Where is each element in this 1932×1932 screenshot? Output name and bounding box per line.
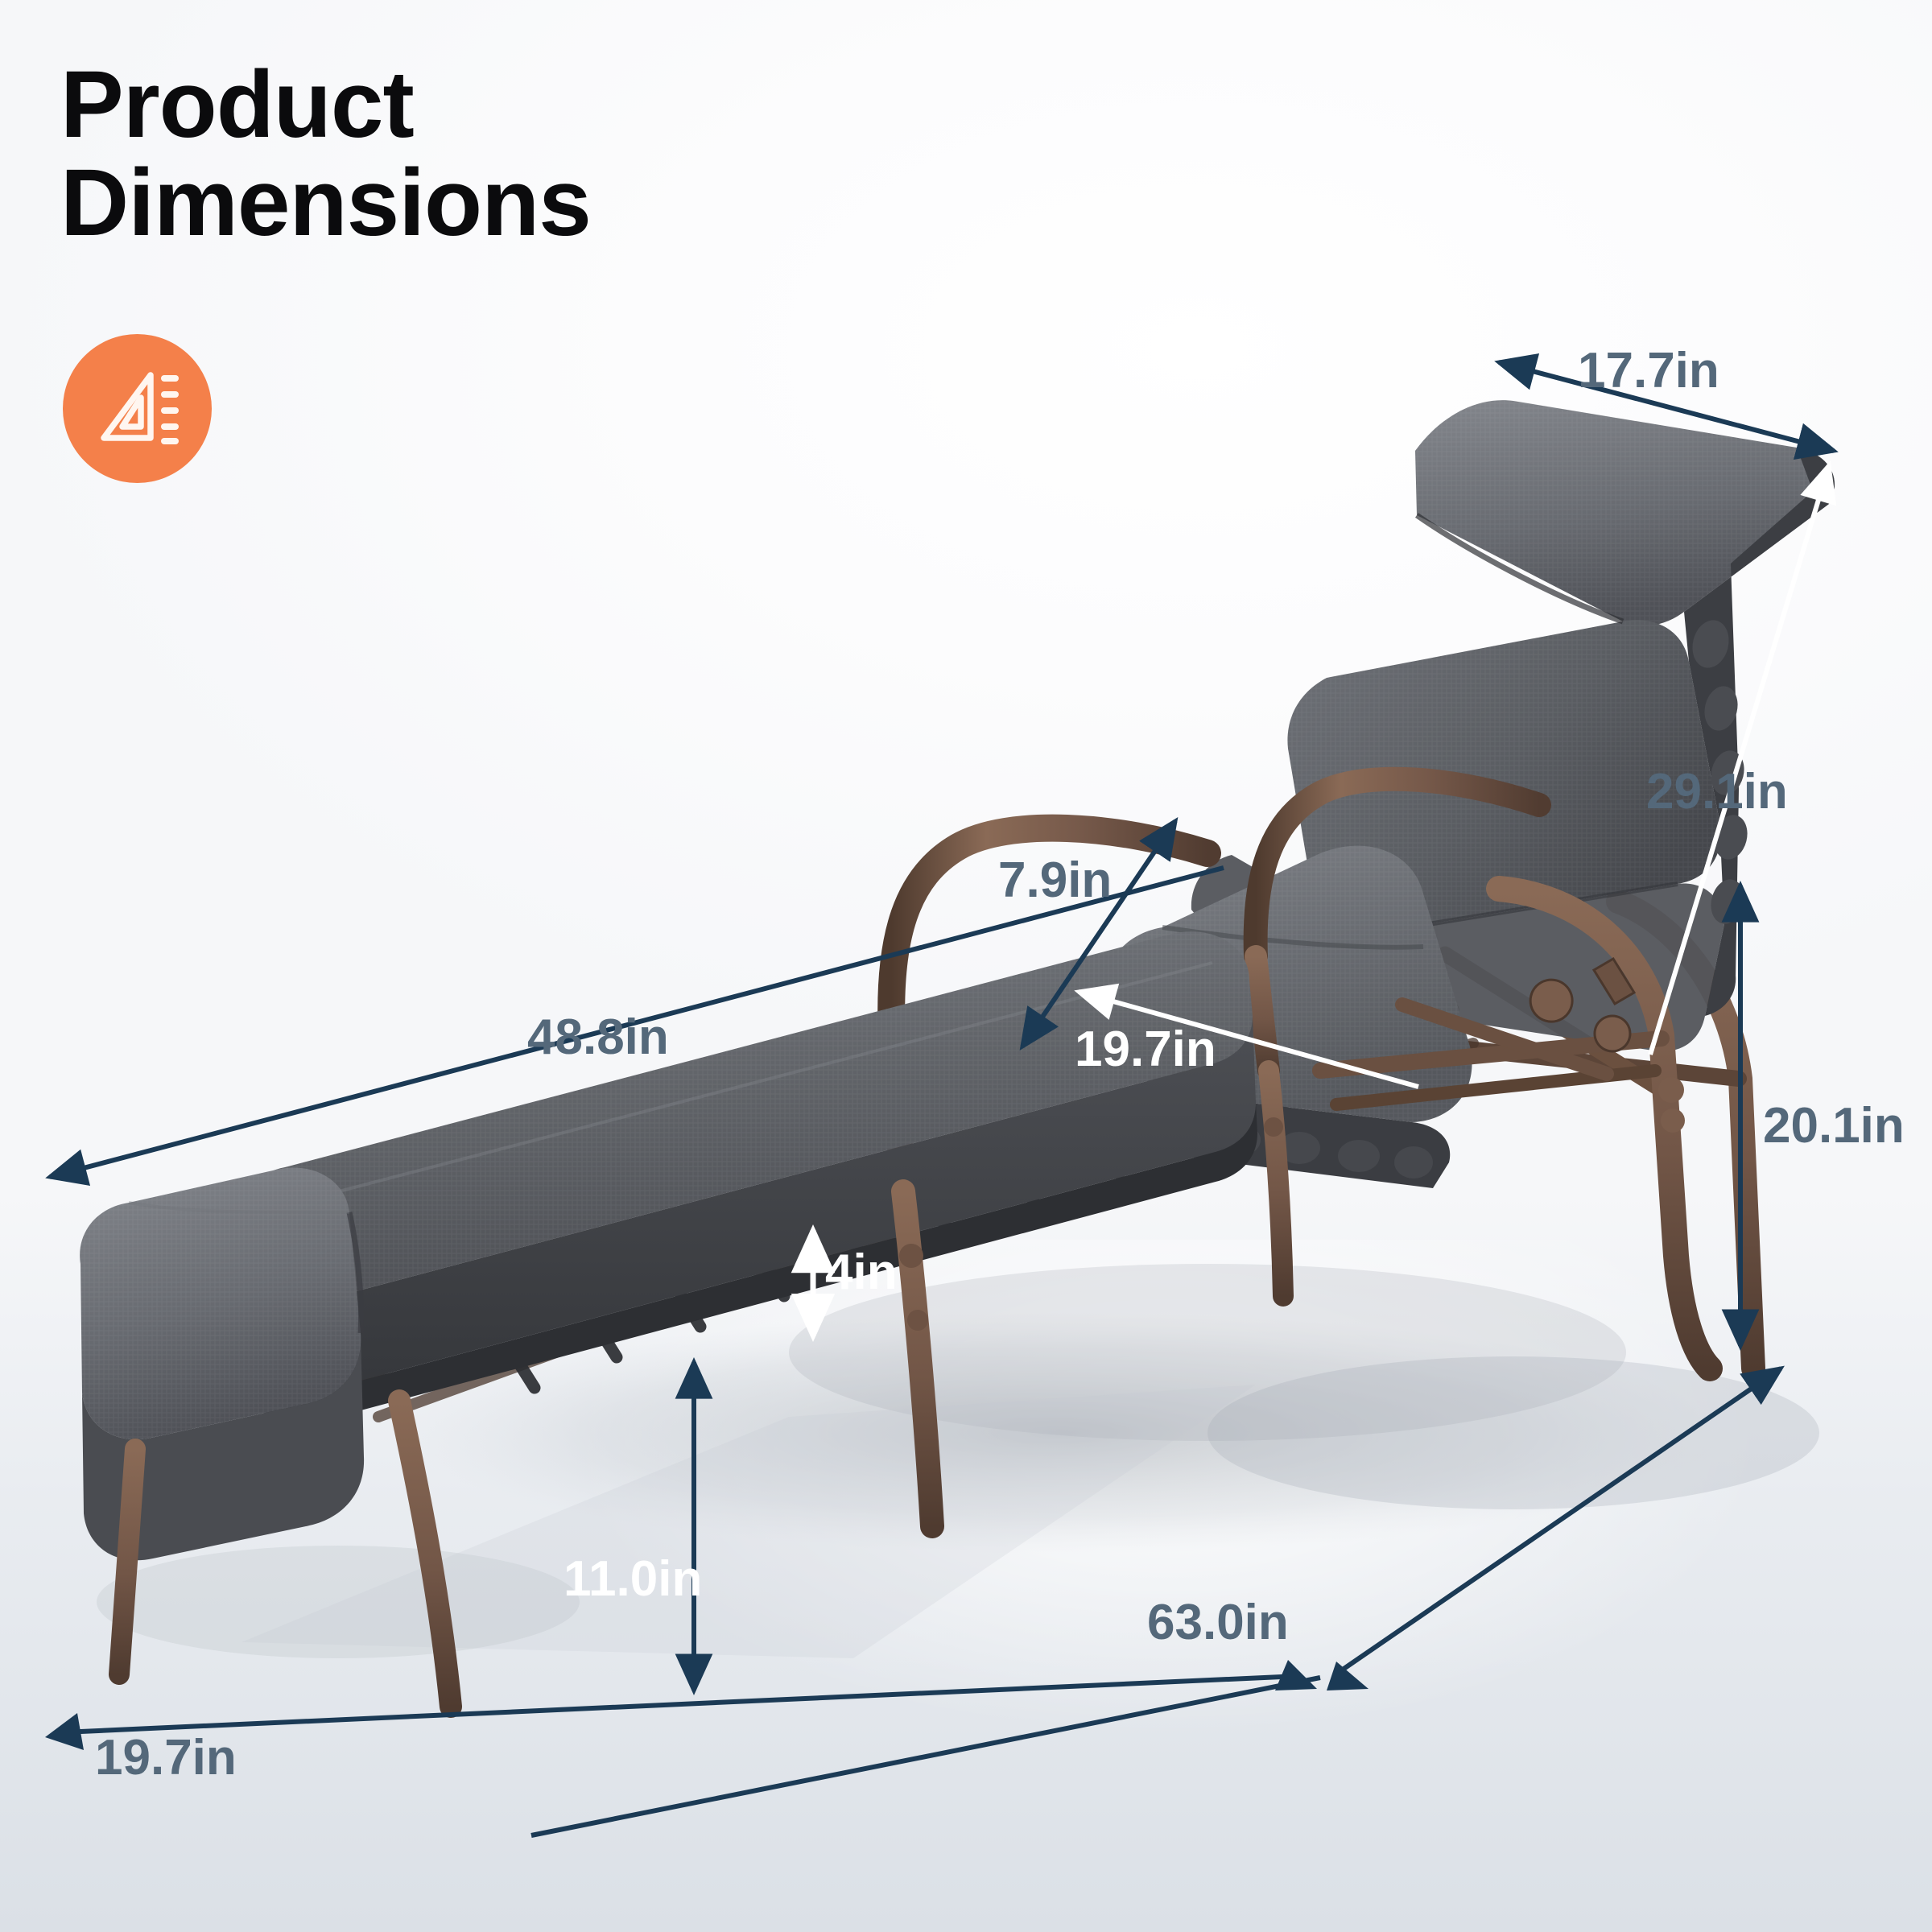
dimension-label-overall-depth: 19.7in — [95, 1729, 237, 1786]
dimension-label-width-top: 17.7in — [1578, 342, 1719, 399]
dim-line-19-7-depth — [63, 1676, 1299, 1732]
dimension-label-seat-width: 19.7in — [1075, 1021, 1216, 1078]
dimension-label-front-height: 11.0in — [563, 1550, 702, 1608]
dimension-label-cushion-length: 48.8in — [527, 1009, 669, 1066]
dim-arrow-depth-left — [45, 1713, 84, 1750]
dimension-label-pillow-depth: 7.9in — [998, 852, 1112, 909]
dimension-label-back-leg-height: 20.1in — [1763, 1097, 1905, 1154]
dimension-label-cushion-thick: 4in — [825, 1244, 898, 1301]
product-illustration — [0, 0, 1932, 1932]
dim-line-63-0-left — [531, 1678, 1320, 1835]
infographic-canvas: Product Dimensions — [0, 0, 1932, 1932]
dimension-label-overall-length: 63.0in — [1147, 1594, 1289, 1651]
dimension-label-back-height: 29.1in — [1646, 763, 1788, 820]
